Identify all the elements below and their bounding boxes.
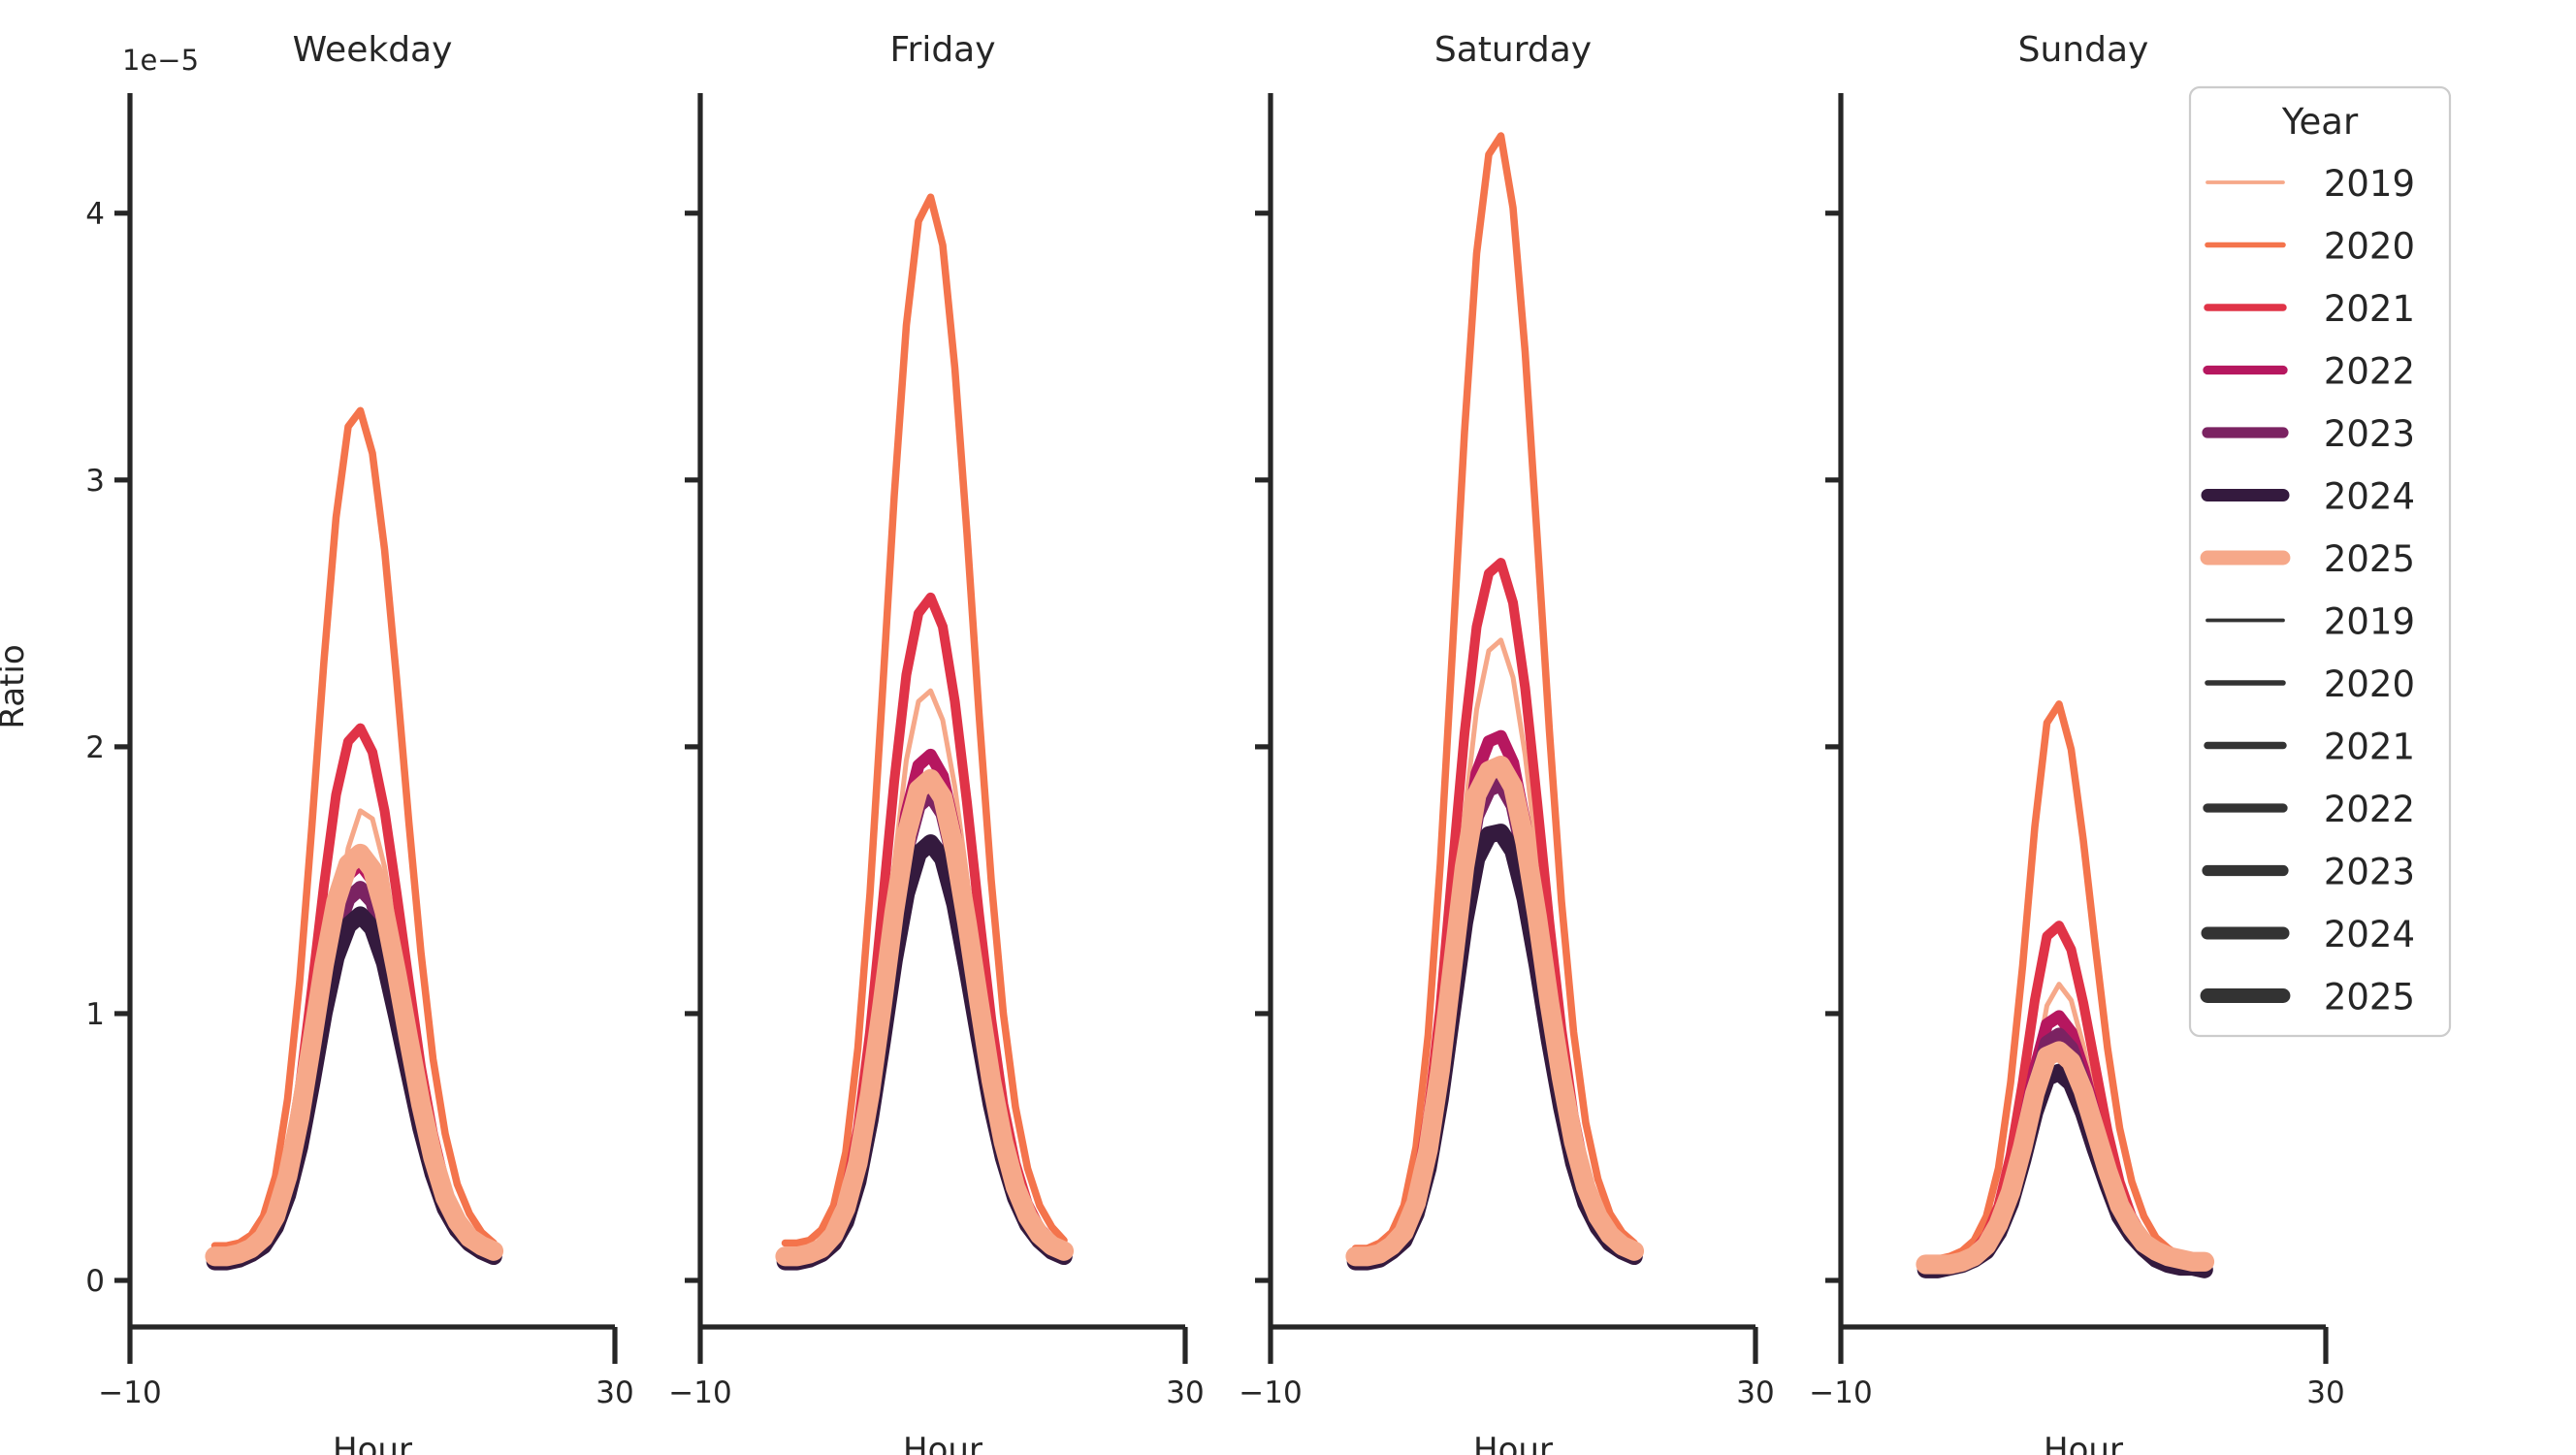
x-axis-label: Hour [2044, 1431, 2123, 1455]
legend-label-2022[interactable]: 2022 [2324, 789, 2415, 830]
chart-canvas: Weekday01234−1030Hour1e−5RatioFriday−103… [0, 0, 2576, 1455]
x-tick-label: −10 [668, 1375, 731, 1410]
x-tick-label: −10 [98, 1375, 161, 1410]
y-tick-label: 0 [85, 1264, 105, 1299]
chart-panel-saturday: Saturday−1030Hour [1239, 30, 1774, 1455]
legend-label-2021[interactable]: 2021 [2324, 288, 2415, 330]
legend-label-2020[interactable]: 2020 [2324, 226, 2415, 268]
y-axis-offset-text: 1e−5 [122, 44, 199, 77]
x-axis-label: Hour [333, 1431, 412, 1455]
x-axis-label: Hour [1473, 1431, 1553, 1455]
legend-label-2022[interactable]: 2022 [2324, 351, 2415, 393]
x-tick-label: −10 [1809, 1375, 1872, 1410]
x-tick-label: 30 [1166, 1375, 1204, 1410]
y-tick-label: 3 [85, 464, 105, 499]
y-tick-label: 2 [85, 730, 105, 765]
x-axis-label: Hour [903, 1431, 982, 1455]
legend-label-2025[interactable]: 2025 [2324, 977, 2415, 1018]
chart-panel-weekday: Weekday01234−1030Hour1e−5Ratio [0, 30, 634, 1455]
panel-title: Friday [889, 30, 995, 70]
legend-label-2021[interactable]: 2021 [2324, 727, 2415, 768]
series-line-2020 [1356, 136, 1635, 1248]
series-line-2020 [786, 197, 1065, 1243]
legend-title: Year [2281, 101, 2359, 143]
chart-figure: Weekday01234−1030Hour1e−5RatioFriday−103… [0, 0, 2576, 1455]
y-tick-label: 4 [85, 197, 105, 232]
legend-label-2023[interactable]: 2023 [2324, 852, 2415, 893]
legend-label-2020[interactable]: 2020 [2324, 663, 2415, 705]
panel-title: Sunday [2018, 30, 2149, 70]
legend-label-2025[interactable]: 2025 [2324, 538, 2415, 580]
series-line-2020 [1926, 704, 2206, 1262]
series-line-2021 [1926, 925, 2206, 1267]
y-tick-label: 1 [85, 997, 105, 1032]
x-tick-label: 30 [1736, 1375, 1774, 1410]
legend-label-2024[interactable]: 2024 [2324, 476, 2415, 518]
x-tick-label: −10 [1239, 1375, 1302, 1410]
legend-label-2019[interactable]: 2019 [2324, 163, 2415, 205]
legend-label-2023[interactable]: 2023 [2324, 413, 2415, 455]
legend-label-2024[interactable]: 2024 [2324, 914, 2415, 955]
y-axis-label: Ratio [0, 644, 32, 728]
x-tick-label: 30 [2306, 1375, 2344, 1410]
panel-title: Weekday [293, 30, 453, 70]
legend-label-2019[interactable]: 2019 [2324, 601, 2415, 643]
panel-title: Saturday [1434, 30, 1592, 70]
chart-panel-friday: Friday−1030Hour [668, 30, 1204, 1455]
legend: Year201920202021202220232024202520192020… [2190, 87, 2450, 1036]
x-tick-label: 30 [596, 1375, 633, 1410]
